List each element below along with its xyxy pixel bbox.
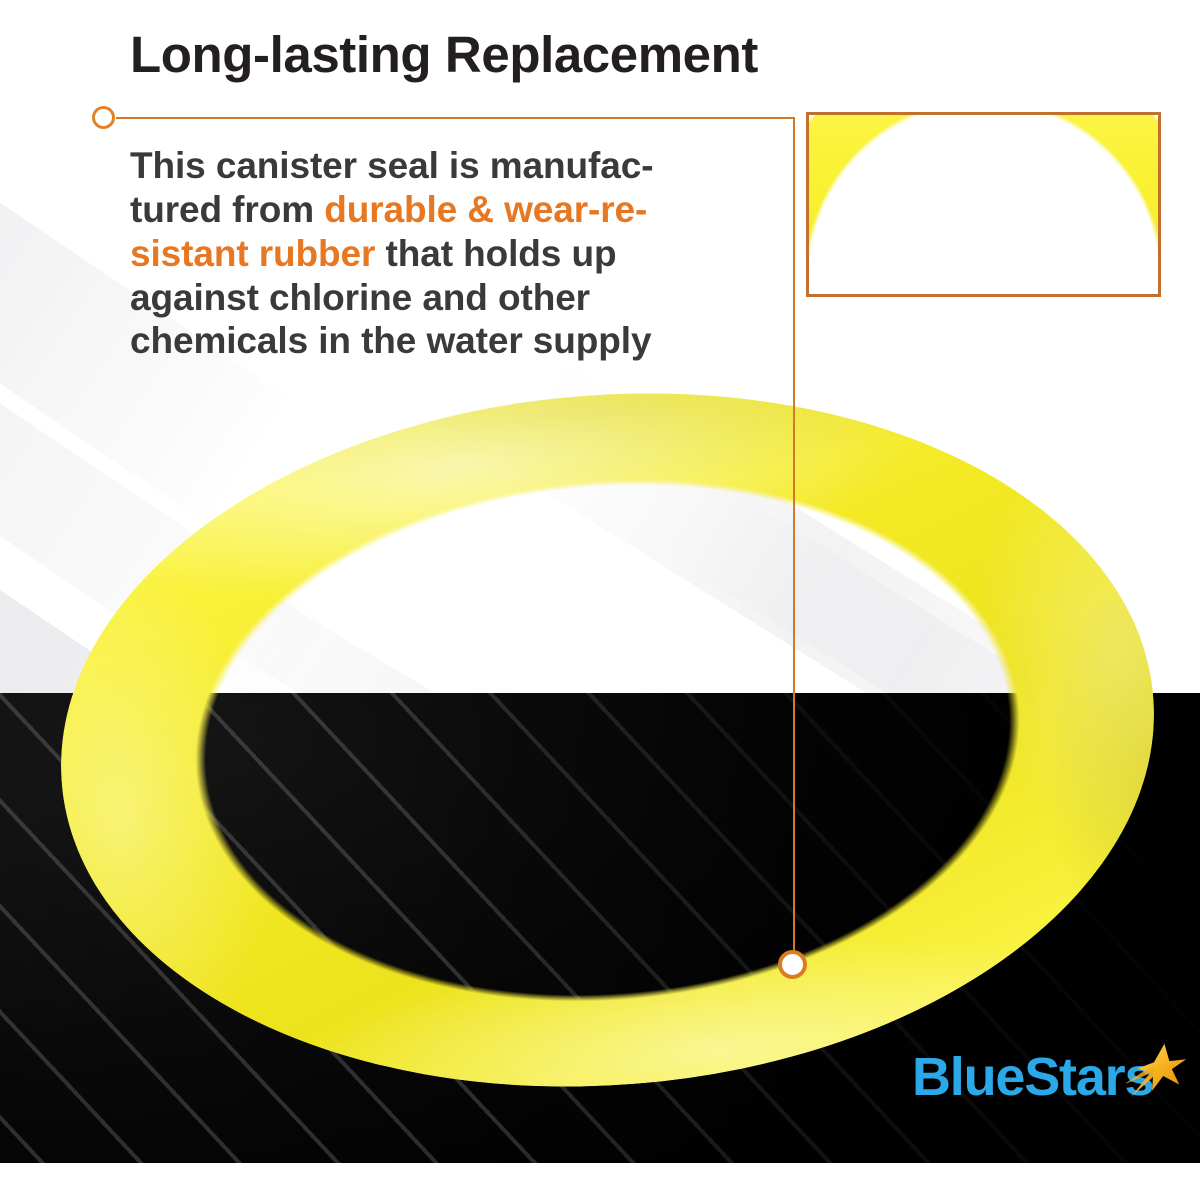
body-line: sistant rubber that holds up <box>130 232 768 276</box>
seal-macro-closeup <box>806 112 1161 297</box>
brand-logo: BlueStars <box>912 1050 1182 1120</box>
product-seal-ring <box>35 353 1181 1127</box>
product-marketing-image: Long-lasting Replacement This canister s… <box>0 0 1200 1200</box>
callout-start-circle-icon <box>92 106 115 129</box>
body-line-3-plain: that holds up <box>375 233 616 274</box>
body-line-1: This canister seal is manufac- <box>130 145 653 186</box>
callout-vertical-line <box>793 117 795 963</box>
body-line-3-highlight: sistant rubber <box>130 233 375 274</box>
page-title: Long-lasting Replacement <box>130 28 950 82</box>
body-text: This canister seal is manufac- tured fro… <box>130 144 768 363</box>
callout-end-circle-icon <box>778 950 807 979</box>
body-line-4: against chlorine and other <box>130 277 590 318</box>
detail-inset-box <box>806 112 1161 297</box>
body-line: against chlorine and other <box>130 276 768 320</box>
body-line: chemicals in the water supply <box>130 319 768 363</box>
body-line: This canister seal is manufac- <box>130 144 768 188</box>
body-line-2-highlight: durable & wear-re- <box>324 189 647 230</box>
callout-horizontal-line <box>116 117 795 119</box>
brand-logo-text: BlueStars <box>912 1050 1153 1104</box>
body-line-2-plain: tured from <box>130 189 324 230</box>
body-line-5: chemicals in the water supply <box>130 320 651 361</box>
body-line: tured from durable & wear-re- <box>130 188 768 232</box>
seal-ring-highlight <box>35 353 1181 1127</box>
star-icon <box>1126 1040 1188 1102</box>
bottom-white-strip <box>0 1163 1200 1200</box>
